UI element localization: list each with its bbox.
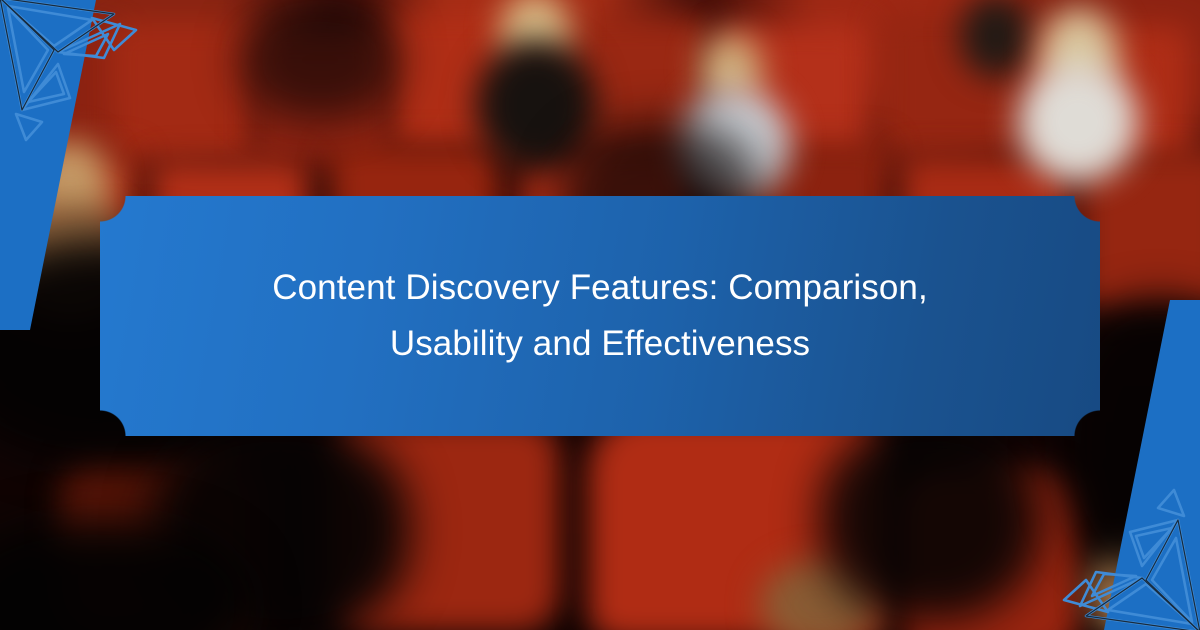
audience-figure (1018, 62, 1138, 182)
share-card-canvas: Content Discovery Features: Comparison, … (0, 0, 1200, 630)
page-title: Content Discovery Features: Comparison, … (148, 260, 1052, 372)
seat-shape (108, 20, 258, 160)
shadow-blob (820, 420, 1040, 620)
shadow-blob (240, 0, 400, 120)
title-card: Content Discovery Features: Comparison, … (100, 196, 1100, 436)
